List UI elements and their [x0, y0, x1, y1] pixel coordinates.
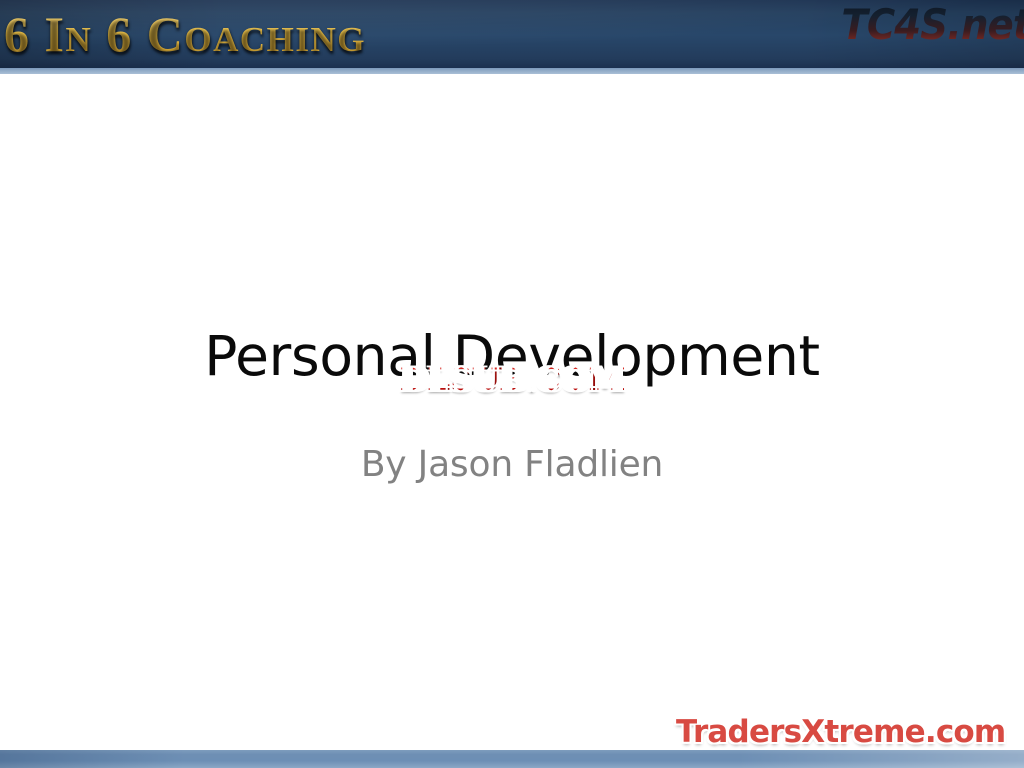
header-banner: 6 In 6 Coaching 6 In 6 Coaching TC4S.net [0, 0, 1024, 68]
site-logo: TC4S.net [841, 1, 1024, 49]
page-title: Personal Development [0, 326, 1024, 386]
footer-watermark: TradersXtreme.com [676, 713, 1005, 751]
brand-title: 6 In 6 Coaching [4, 5, 366, 63]
slide-content-area: Personal Development DLSUB.COM By Jason … [0, 74, 1024, 750]
footer-bar [0, 750, 1024, 768]
slide-subtitle: By Jason Fladlien [0, 444, 1024, 486]
presentation-slide: 6 In 6 Coaching 6 In 6 Coaching TC4S.net… [0, 0, 1024, 768]
